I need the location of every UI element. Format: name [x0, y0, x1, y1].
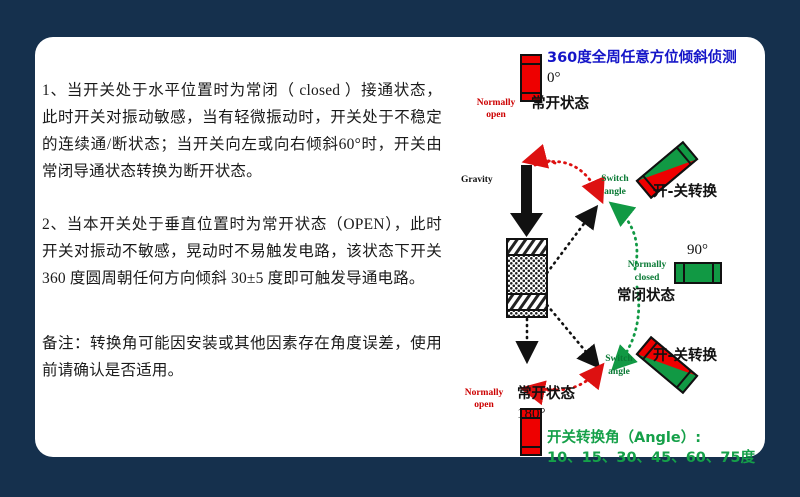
paragraph-1: 1、当开关处于水平位置时为常闭（ closed ）接通状态，此时开关对振动敏感，… [42, 77, 442, 185]
tilt-switch-diagram: 360度全周任意方位倾斜侦测 0° Normally open 常开状态 Gra… [435, 37, 765, 457]
normally-open-top-en-line1: Normally [465, 99, 527, 109]
switch-transition-top-cn: 开-关转换 [653, 185, 717, 200]
angle-list-title: 开关转换角（Angle）: [547, 431, 701, 446]
diagram-title: 360度全周任意方位倾斜侦测 [547, 51, 737, 66]
angle-label-90: 90° [687, 243, 708, 259]
content-card: 1、当开关处于水平位置时为常闭（ closed ）接通状态，此时开关对振动敏感，… [35, 37, 765, 457]
normally-closed-en-line1: Normally [619, 261, 675, 271]
angle-list-values: 10、15、30、45、60、75度 [547, 451, 755, 466]
normally-open-bottom-en-line1: Normally [453, 389, 515, 399]
switch-angle-top-en-line1: Switch [585, 175, 645, 185]
paragraph-2: 2、当本开关处于垂直位置时为常开状态（OPEN），此时开关对振动不敏感，晃动时不… [42, 211, 442, 292]
paragraph-note: 备注：转换角可能因安装或其他因素存在角度误差，使用前请确认是否适用。 [42, 330, 442, 384]
switch-angle-top-en-line2: angle [585, 188, 645, 198]
switch-transition-bottom-cn: 开-关转换 [653, 349, 717, 364]
gravity-label: Gravity [461, 176, 493, 186]
normally-closed-en-line2: closed [619, 274, 675, 284]
switch-vertical-red-icon-top [521, 55, 541, 101]
description-text-panel: 1、当开关处于水平位置时为常闭（ closed ）接通状态，此时开关对振动敏感，… [42, 77, 442, 410]
switch-angle-bottom-en-line2: angle [589, 368, 649, 378]
dotted-path-upper-right [547, 209, 595, 273]
switch-horizontal-green-icon [675, 263, 721, 283]
normally-closed-cn: 常闭状态 [617, 289, 675, 304]
normally-open-top-cn: 常开状态 [531, 97, 589, 112]
angle-label-180: 180° [517, 407, 546, 423]
tilt-sensor-body-icon [507, 239, 547, 317]
normally-open-top-en-line2: open [465, 111, 527, 121]
normally-open-bottom-cn: 常开状态 [517, 387, 575, 402]
gravity-down-arrow-icon [510, 165, 543, 237]
normally-open-bottom-en-line2: open [453, 401, 515, 411]
switch-angle-bottom-en-line1: Switch [589, 355, 649, 365]
switch-tilted-red-green-icon [637, 337, 697, 392]
angle-label-0: 0° [547, 71, 561, 87]
